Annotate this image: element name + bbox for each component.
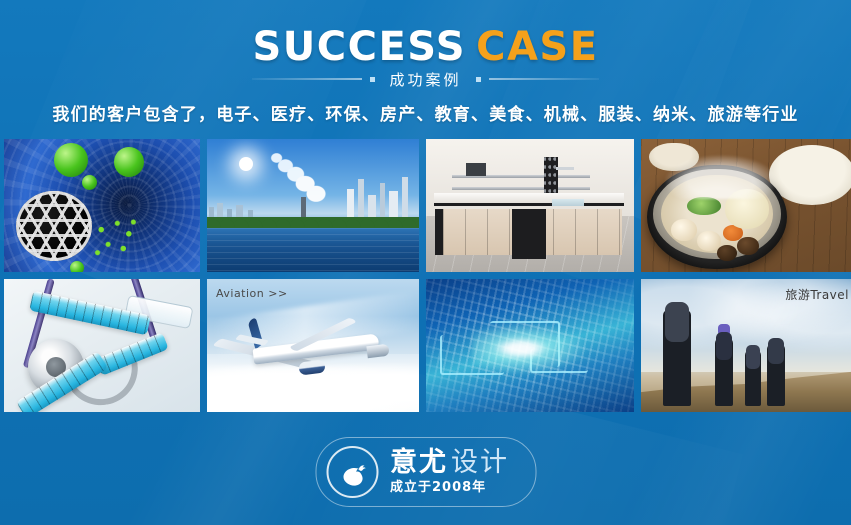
gallery-item-food[interactable] bbox=[641, 139, 851, 272]
gallery-item-aviation[interactable]: Aviation >> bbox=[207, 279, 419, 412]
smoke-plume bbox=[263, 149, 331, 205]
food-mushroom bbox=[717, 245, 737, 261]
lab-monitor bbox=[466, 163, 486, 176]
page-footer: 意尤 设计 成立于2008年 bbox=[0, 425, 851, 525]
title-success: SUCCESS bbox=[252, 24, 466, 70]
subtitle-row: 成功案例 bbox=[0, 66, 851, 92]
industrial-plant bbox=[341, 175, 415, 223]
nano-particles bbox=[92, 217, 138, 259]
hiker-figure bbox=[663, 310, 691, 406]
lab-shelf bbox=[452, 187, 590, 190]
food-chicken bbox=[671, 219, 697, 241]
brand-badge[interactable]: 意尤 设计 成立于2008年 bbox=[315, 437, 536, 507]
divider-line-left bbox=[252, 78, 362, 80]
title-case: CASE bbox=[476, 24, 598, 70]
water-surface bbox=[207, 228, 419, 272]
nano-photo bbox=[4, 139, 200, 272]
lab-black-cabinet bbox=[512, 209, 546, 259]
divider-dot-right bbox=[476, 77, 481, 82]
food-steam bbox=[665, 155, 777, 199]
subtitle-chinese: 成功案例 bbox=[383, 69, 467, 90]
lab-faucet bbox=[556, 167, 574, 170]
fullerene-molecule bbox=[16, 191, 92, 261]
brand-name-bold: 意尤 bbox=[390, 449, 448, 477]
gallery-item-travel[interactable]: 旅游Travel bbox=[641, 279, 851, 412]
brand-name-row: 意尤 设计 bbox=[390, 449, 509, 477]
aviation-caption: Aviation >> bbox=[216, 287, 288, 300]
gallery-item-nano[interactable] bbox=[4, 139, 200, 272]
brand-name-light: 设计 bbox=[451, 449, 509, 477]
hiker-figure bbox=[745, 350, 761, 406]
gallery-item-electronics[interactable] bbox=[426, 279, 634, 412]
brand-text: 意尤 设计 成立于2008年 bbox=[390, 449, 509, 495]
nano-sphere-green bbox=[114, 147, 144, 177]
gallery-item-medical[interactable] bbox=[4, 279, 200, 412]
page-header: SUCCESSCASE 成功案例 我们的客户包含了，电子、医疗、环保、房产、教育… bbox=[0, 0, 851, 135]
food-greens bbox=[687, 197, 721, 215]
brand-logo bbox=[326, 446, 378, 498]
travel-caption: 旅游Travel bbox=[785, 286, 849, 303]
lab-photo bbox=[426, 139, 634, 272]
gallery-item-environment[interactable] bbox=[207, 139, 419, 272]
lab-sink bbox=[552, 199, 584, 206]
divider-line-right bbox=[489, 78, 599, 80]
food-photo bbox=[641, 139, 851, 272]
lab-countertop bbox=[434, 193, 624, 206]
hiker-figure bbox=[767, 344, 785, 406]
hiker-figure bbox=[715, 338, 733, 406]
medical-photo bbox=[4, 279, 200, 412]
brand-established: 成立于2008年 bbox=[390, 481, 509, 495]
nano-sphere-green bbox=[82, 175, 97, 190]
nano-sphere-green bbox=[54, 143, 88, 177]
circuit-glow bbox=[472, 322, 588, 375]
electronics-photo bbox=[426, 279, 634, 412]
nano-sphere-green bbox=[70, 261, 84, 272]
lead-text: 我们的客户包含了，电子、医疗、环保、房产、教育、美食、机械、服装、纳米、旅游等行… bbox=[0, 100, 851, 125]
environment-photo bbox=[207, 139, 419, 272]
page-title: SUCCESSCASE bbox=[0, 24, 851, 70]
gallery-item-lab[interactable] bbox=[426, 139, 634, 272]
food-mushroom bbox=[737, 237, 759, 255]
swan-logo-icon bbox=[337, 457, 371, 491]
case-gallery-grid: Aviation >> 旅游Travel bbox=[0, 139, 851, 419]
divider-dot-left bbox=[370, 77, 375, 82]
sun-icon bbox=[239, 157, 253, 171]
